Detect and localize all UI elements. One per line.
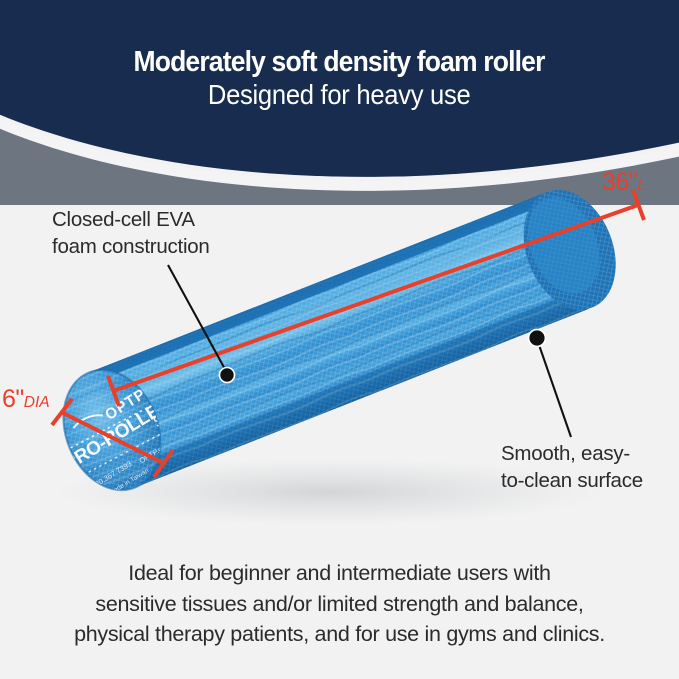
dimension-length-value: 36" — [602, 168, 637, 196]
description-line: sensitive tissues and/or limited strengt… — [0, 589, 679, 620]
product-description: Ideal for beginner and intermediate user… — [0, 558, 679, 650]
product-infographic: Moderately soft density foam roller Desi… — [0, 0, 679, 679]
dimension-length-unit: L — [637, 177, 646, 194]
description-line: Ideal for beginner and intermediate user… — [0, 558, 679, 589]
callout-leader-right — [529, 330, 572, 438]
dimension-label-diameter: 6"DIA — [2, 385, 50, 414]
description-line: physical therapy patients, and for use i… — [0, 619, 679, 650]
dimension-label-length: 36"L — [602, 168, 646, 197]
dimension-diameter-unit: DIA — [24, 394, 50, 411]
callout-smooth-surface: Smooth, easy- to-clean surface — [501, 440, 643, 494]
callout-closed-cell-eva: Closed-cell EVA foam construction — [52, 206, 210, 260]
dimension-diameter-value: 6" — [2, 385, 24, 413]
